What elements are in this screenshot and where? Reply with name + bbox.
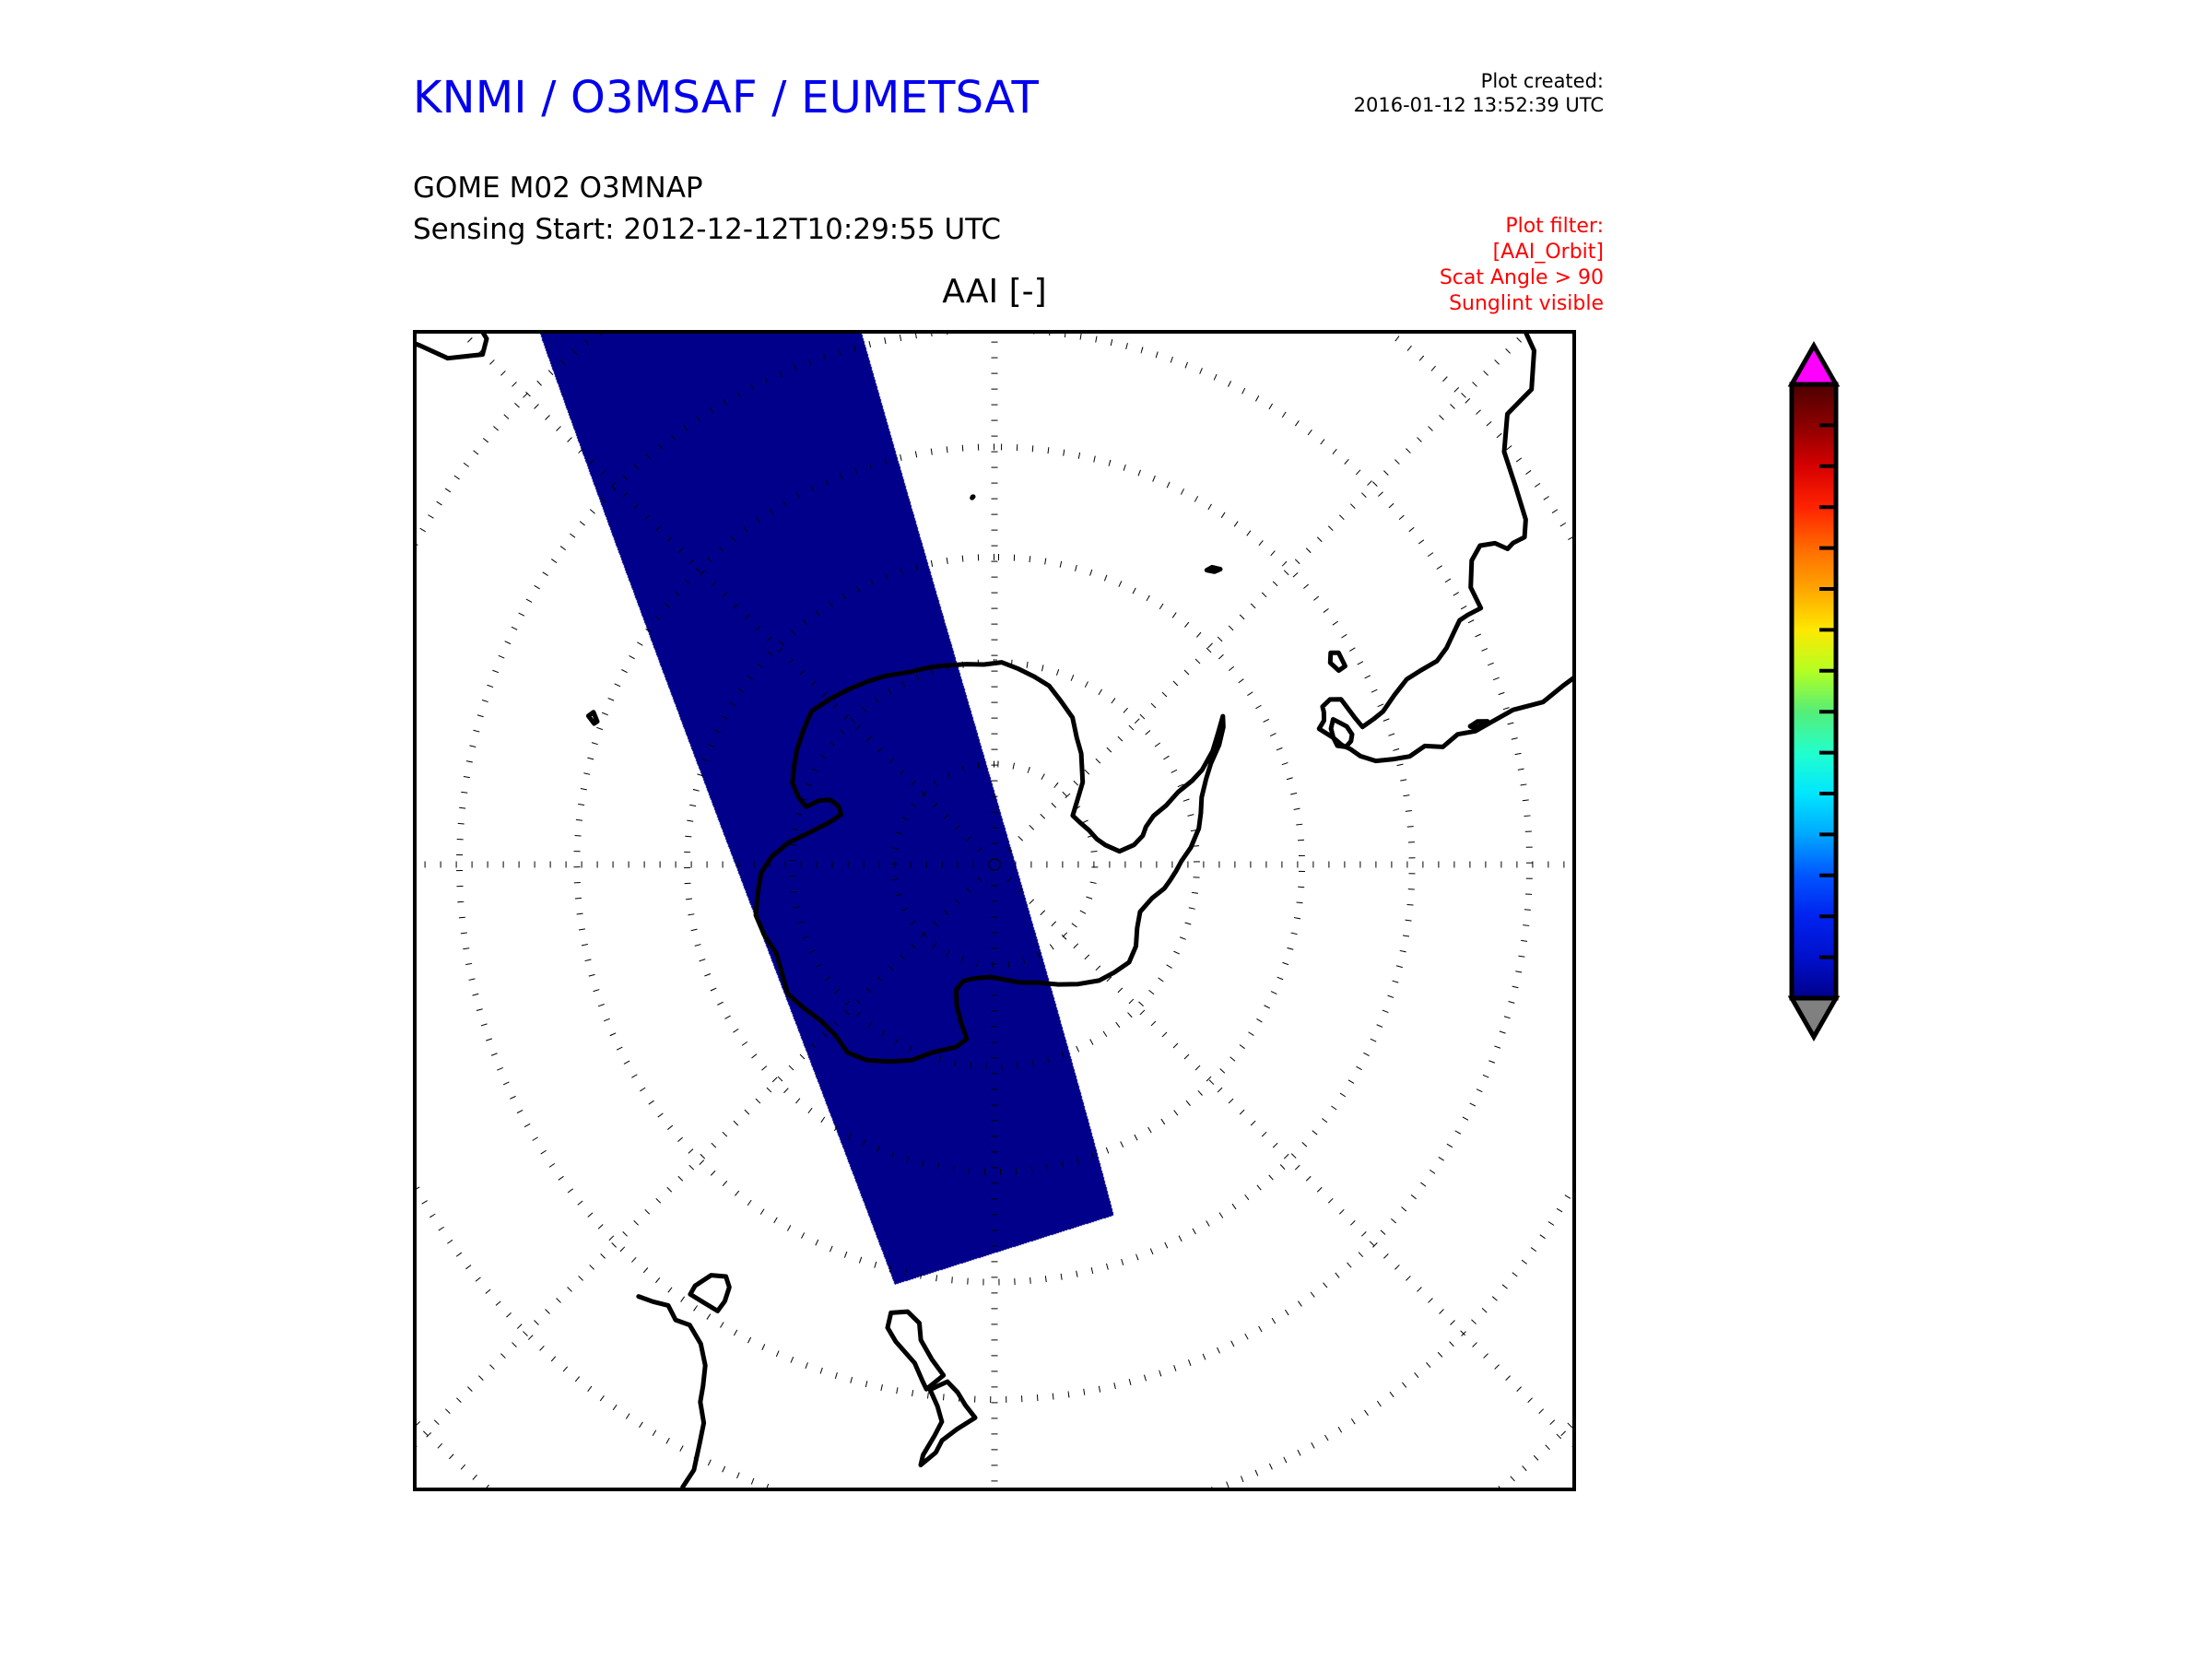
polar-map [413,330,1576,1491]
plot-page: KNMI / O3MSAF / EUMETSAT Plot created: 2… [0,0,2212,1659]
colorbar: 4.03.53.02.52.01.51.00.50.0−0.5−1.0−1.5−… [1779,327,2166,1304]
colorbar-svg [1779,327,2166,1304]
instrument-line: GOME M02 O3MNAP [413,168,1001,209]
sensing-start-line: Sensing Start: 2012-12-12T10:29:55 UTC [413,209,1001,251]
filter-line-2: [AAI_Orbit] [1440,240,1604,265]
map-panel [413,330,1576,1491]
page-title: KNMI / O3MSAF / EUMETSAT [413,72,1039,124]
chart-title: AAI [-] [413,273,1576,311]
aai-swath-raster [413,330,1576,1491]
plot-created-block: Plot created: 2016-01-12 13:52:39 UTC [1354,70,1604,117]
plot-created-label: Plot created: [1354,70,1604,94]
coastline-south-georgia [1206,567,1220,571]
filter-line-1: Plot filter: [1440,214,1604,240]
colorbar-over-arrow [1792,346,1836,384]
colorbar-gradient [1792,384,1836,998]
plot-created-value: 2016-01-12 13:52:39 UTC [1354,94,1604,118]
data-swath [413,330,1576,1491]
coastline-bouvet [972,497,973,498]
colorbar-under-arrow [1792,998,1836,1037]
dataset-info: GOME M02 O3MNAP Sensing Start: 2012-12-1… [413,168,1001,251]
